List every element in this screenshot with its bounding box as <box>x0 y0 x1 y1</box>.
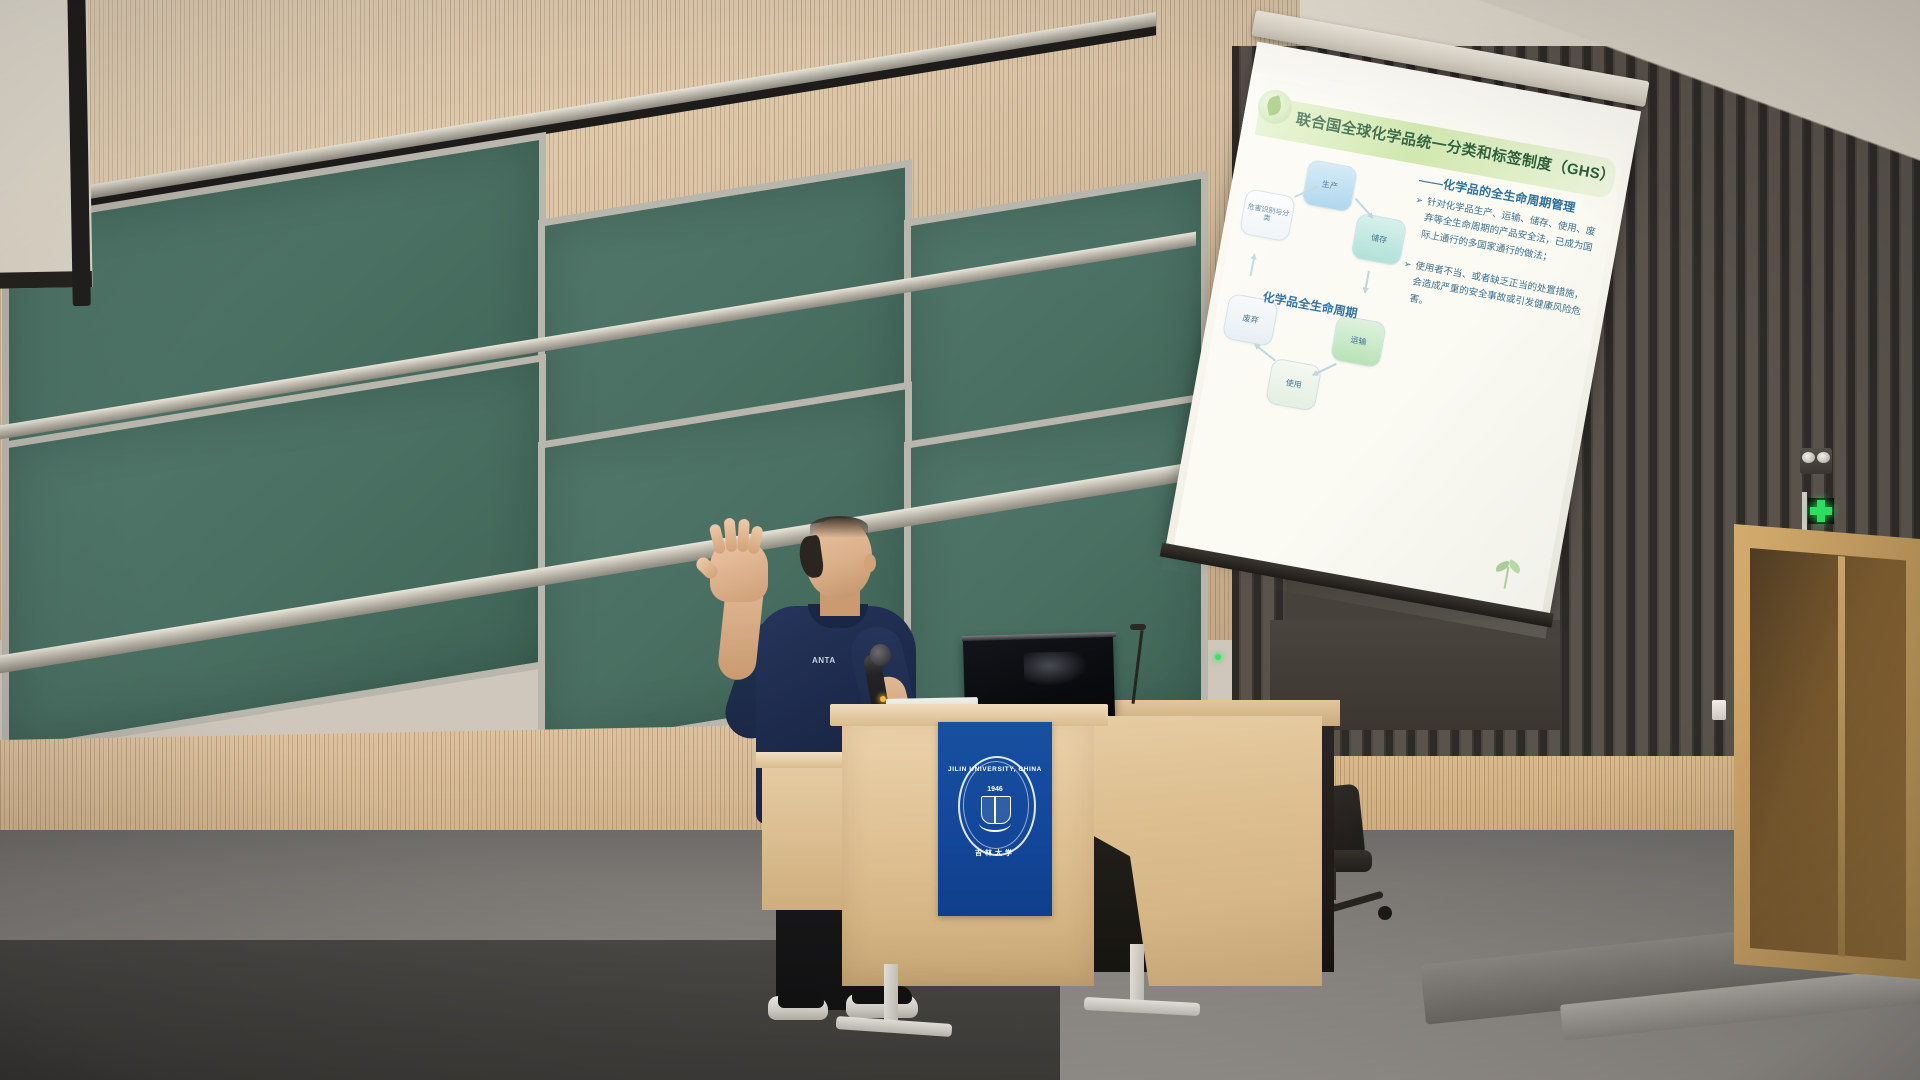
cycle-node-storage: 储存 <box>1350 212 1407 266</box>
slide-bullet-list: ➢ 针对化学品生产、运输、储存、使用、废弃等全生命周期的产品安全法，已成为国际上… <box>1394 193 1600 354</box>
cycle-node-production: 生产 <box>1301 159 1358 213</box>
first-aid-green-cross-icon <box>1808 498 1834 524</box>
emblem-bird-icon <box>979 814 1011 832</box>
sprout-icon <box>1490 552 1526 591</box>
gooseneck-mic-head <box>1130 624 1146 630</box>
podium-leg-post <box>1130 944 1144 1006</box>
cycle-arrow-5 <box>1254 344 1275 361</box>
presentation-slide: 联合国全球化学品统一分类和标签制度（GHS） ——化学品的全生命周期管理 生产 … <box>1172 76 1627 621</box>
list-item: ➢ 使用者不当、或者缺乏正当的处置措施，会造成严重的安全事故或引发健康风险危害。 <box>1397 256 1589 337</box>
emblem-chinese-text: 吉林大学 <box>948 848 1042 858</box>
sign-mount-bracket <box>1802 492 1807 534</box>
cycle-arrow-3 <box>1364 271 1369 293</box>
speaker-ear <box>864 554 876 572</box>
side-entrance-door-opening[interactable] <box>1750 548 1906 961</box>
office-chair-wheel <box>1378 906 1392 920</box>
emblem-year: 1946 <box>948 786 1042 793</box>
emergency-light <box>1800 448 1832 474</box>
emblem-english-text: JILIN UNIVERSITY, CHINA <box>948 766 1042 773</box>
speaker-shoe-right-upper <box>852 986 912 1004</box>
bullet-text: 使用者不当、或者缺乏正当的处置措施，会造成严重的安全事故或引发健康风险危害。 <box>1408 259 1588 338</box>
speaker-hair-top <box>810 516 868 538</box>
cycle-arrow-6 <box>1250 254 1255 276</box>
shirt-logo: ANTA <box>812 656 856 666</box>
podium-leg-post <box>884 964 898 1026</box>
speaker-hand-left-raised <box>710 540 768 602</box>
cycle-node-use: 使用 <box>1265 357 1322 411</box>
indicator-led-icon <box>1215 654 1221 660</box>
door-mullion <box>1838 556 1845 957</box>
cycle-node-hazard: 危害识别与分类 <box>1239 188 1296 242</box>
wall-light-switch[interactable] <box>1712 700 1726 720</box>
cycle-arrow-4 <box>1313 363 1337 376</box>
lecture-hall-photo: 联合国全球化学品统一分类和标签制度（GHS） ——化学品的全生命周期管理 生产 … <box>0 0 1920 1080</box>
monitor-screen-reflection <box>1024 651 1089 687</box>
speaker-shoe-left-upper <box>778 990 824 1008</box>
jilin-university-emblem: JILIN UNIVERSITY, CHINA 1946 吉林大学 <box>948 752 1042 862</box>
